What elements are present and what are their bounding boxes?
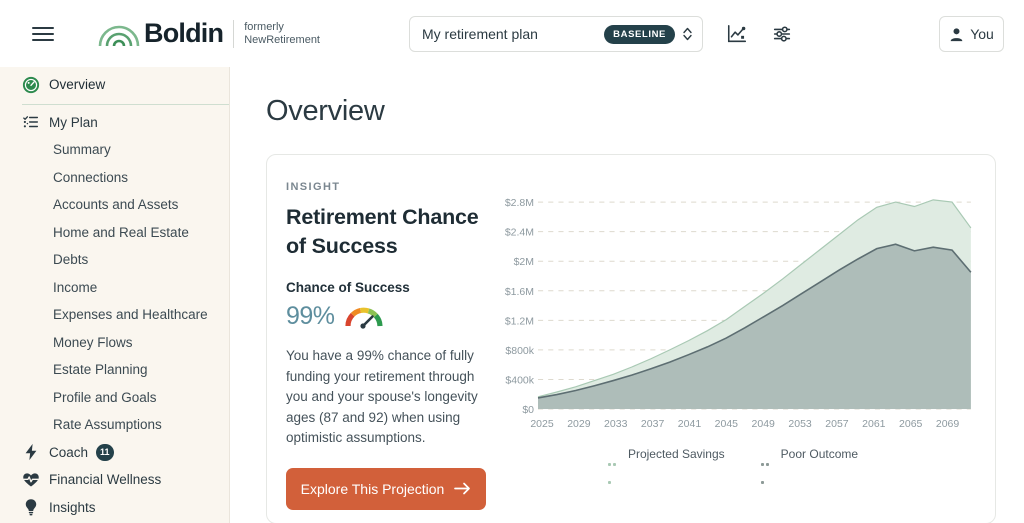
- chart-y-tick: $800k: [505, 345, 534, 357]
- brand-name: Boldin: [144, 18, 223, 49]
- legend-item-projected-savings[interactable]: Projected Savings: [608, 447, 725, 461]
- hamburger-bar: [32, 39, 54, 41]
- sidebar-active-separator: [22, 104, 229, 105]
- brand-sub-line1: formerly: [244, 21, 320, 34]
- sidebar-item-label: Profile and Goals: [53, 390, 157, 405]
- sidebar-item-label: Summary: [53, 142, 111, 157]
- heart-pulse-icon: [22, 471, 40, 489]
- chart-y-tick: $400k: [505, 374, 534, 386]
- sidebar-item-estate-planning[interactable]: Estate Planning: [0, 356, 229, 384]
- chart-x-tick: 2065: [899, 418, 923, 430]
- chart-x-tick: 2049: [752, 418, 776, 430]
- sidebar-item-label: Home and Real Estate: [53, 225, 189, 240]
- chart-y-tick: $0: [522, 404, 534, 416]
- legend-swatch: [608, 453, 621, 456]
- chevron-up-down-icon[interactable]: [682, 26, 693, 42]
- sidebar-item-financial-wellness[interactable]: Financial Wellness: [0, 466, 229, 494]
- sidebar: OverviewMy PlanSummaryConnectionsAccount…: [0, 67, 230, 523]
- sidebar-item-label: Rate Assumptions: [53, 417, 162, 432]
- chart-y-tick: $2M: [514, 256, 534, 268]
- sidebar-item-label: Accounts and Assets: [53, 197, 178, 212]
- sidebar-item-label: Estate Planning: [53, 362, 148, 377]
- sidebar-item-label: Financial Wellness: [49, 472, 161, 487]
- chart-x-tick: 2033: [604, 418, 628, 430]
- insight-title: Retirement Chance of Success: [286, 203, 489, 261]
- app-header: Boldin formerly NewRetirement My retirem…: [0, 0, 1024, 67]
- sidebar-item-label: Income: [53, 280, 97, 295]
- app-body: OverviewMy PlanSummaryConnectionsAccount…: [0, 67, 1024, 523]
- arrow-right-icon: [454, 482, 471, 495]
- hamburger-icon[interactable]: [32, 21, 58, 47]
- chart-x-tick: 2037: [641, 418, 665, 430]
- baseline-badge: BASELINE: [604, 25, 675, 44]
- user-menu-label: You: [970, 26, 994, 42]
- sidebar-item-accounts-and-assets[interactable]: Accounts and Assets: [0, 191, 229, 219]
- sidebar-item-expenses-and-healthcare[interactable]: Expenses and Healthcare: [0, 301, 229, 329]
- plan-selector-right: BASELINE: [604, 25, 693, 44]
- chart-x-tick: 2069: [936, 418, 960, 430]
- sidebar-item-connections[interactable]: Connections: [0, 164, 229, 192]
- insight-card-left: INSIGHT Retirement Chance of Success Cha…: [267, 181, 489, 523]
- sidebar-item-label: Connections: [53, 170, 128, 185]
- sidebar-item-home-and-real-estate[interactable]: Home and Real Estate: [0, 219, 229, 247]
- sidebar-item-label: My Plan: [49, 115, 98, 130]
- sidebar-item-profile-and-goals[interactable]: Profile and Goals: [0, 384, 229, 412]
- insight-body-text: You have a 99% chance of fully funding y…: [286, 346, 488, 449]
- chart-x-tick: 2057: [825, 418, 849, 430]
- chart-y-tick: $1.2M: [505, 315, 534, 327]
- chart-x-tick: 2045: [715, 418, 739, 430]
- person-icon: [949, 27, 964, 42]
- sidebar-item-my-plan[interactable]: My Plan: [0, 109, 229, 137]
- plan-selector[interactable]: My retirement plan BASELINE: [409, 16, 703, 52]
- explore-projection-button[interactable]: Explore This Projection: [286, 468, 486, 510]
- sidebar-item-income[interactable]: Income: [0, 274, 229, 302]
- sidebar-item-insights[interactable]: Insights: [0, 494, 229, 522]
- gauge-icon: [22, 76, 40, 94]
- chart-y-tick: $2.4M: [505, 227, 534, 239]
- brand-subtitle: formerly NewRetirement: [244, 21, 320, 47]
- legend-label: Poor Outcome: [781, 447, 858, 461]
- checklist-icon: [22, 113, 40, 131]
- chart-x-tick: 2053: [788, 418, 812, 430]
- hamburger-bar: [32, 27, 54, 29]
- brand-logo-group[interactable]: Boldin formerly NewRetirement: [98, 18, 320, 49]
- chance-of-success-value: 99%: [286, 302, 335, 331]
- plan-name: My retirement plan: [422, 26, 538, 42]
- legend-swatch: [761, 453, 774, 456]
- main-content: Overview INSIGHT Retirement Chance of Su…: [230, 67, 1024, 523]
- chance-of-success-label: Chance of Success: [286, 280, 489, 295]
- user-menu-button[interactable]: You: [939, 16, 1004, 52]
- sidebar-item-debts[interactable]: Debts: [0, 246, 229, 274]
- brand-divider: [233, 20, 234, 48]
- hamburger-bar: [32, 33, 54, 35]
- chart-legend: Projected SavingsPoor Outcome: [489, 447, 977, 461]
- sidebar-item-label: Money Flows: [53, 335, 133, 350]
- legend-label: Projected Savings: [628, 447, 725, 461]
- sidebar-item-coach[interactable]: Coach11: [0, 439, 229, 467]
- chart-x-tick: 2025: [530, 418, 554, 430]
- sidebar-item-rate-assumptions[interactable]: Rate Assumptions: [0, 411, 229, 439]
- plan-selector-group: My retirement plan BASELINE: [409, 16, 793, 52]
- sidebar-item-label: Coach: [49, 445, 88, 460]
- insight-eyebrow: INSIGHT: [286, 181, 489, 193]
- sidebar-item-summary[interactable]: Summary: [0, 136, 229, 164]
- projection-chart-labels: $0$400k$800k$1.2M$1.6M$2M$2.4M$2.8M20252…: [489, 181, 977, 441]
- app-root: Boldin formerly NewRetirement My retirem…: [0, 0, 1024, 523]
- sidebar-item-money-flows[interactable]: Money Flows: [0, 329, 229, 357]
- line-chart-icon[interactable]: [726, 23, 748, 45]
- boldin-rainbow-icon: [98, 20, 140, 48]
- legend-item-poor-outcome[interactable]: Poor Outcome: [761, 447, 858, 461]
- sidebar-item-label: Insights: [49, 500, 96, 515]
- insight-card-chart: $0$400k$800k$1.2M$1.6M$2M$2.4M$2.8M20252…: [489, 181, 995, 523]
- chart-x-tick: 2029: [567, 418, 591, 430]
- coach-count-badge: 11: [96, 444, 114, 461]
- bolt-icon: [22, 443, 40, 461]
- brand-sub-line2: NewRetirement: [244, 34, 320, 47]
- chart-y-tick: $2.8M: [505, 197, 534, 209]
- explore-projection-label: Explore This Projection: [301, 481, 445, 497]
- page-title: Overview: [266, 95, 996, 128]
- chart-x-tick: 2061: [862, 418, 886, 430]
- chart-y-tick: $1.6M: [505, 286, 534, 298]
- insight-card: INSIGHT Retirement Chance of Success Cha…: [266, 154, 996, 523]
- sidebar-item-label: Overview: [49, 77, 105, 92]
- sidebar-item-overview[interactable]: Overview: [0, 71, 229, 99]
- speedometer-icon: [344, 300, 384, 332]
- chart-x-tick: 2041: [678, 418, 702, 430]
- lightbulb-icon: [22, 498, 40, 516]
- sidebar-item-label: Expenses and Healthcare: [53, 307, 208, 322]
- chance-of-success-row: 99%: [286, 300, 489, 332]
- sidebar-item-label: Debts: [53, 252, 88, 267]
- projection-chart[interactable]: $0$400k$800k$1.2M$1.6M$2M$2.4M$2.8M20252…: [489, 181, 977, 441]
- sliders-icon[interactable]: [771, 23, 793, 45]
